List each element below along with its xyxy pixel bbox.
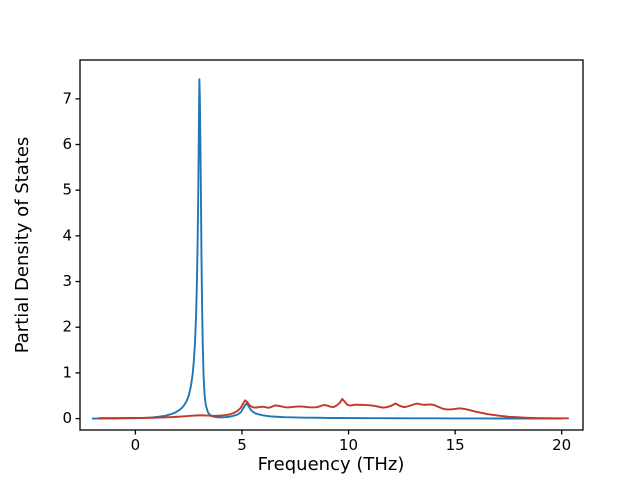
y-tick-label: 2	[62, 318, 72, 336]
plot-border	[80, 60, 583, 430]
x-tick-label: 10	[339, 436, 358, 454]
pdos-line-chart: 05101520 01234567 Frequency (THz) Partia…	[0, 0, 640, 480]
axes-frame	[80, 60, 583, 430]
y-axis-label: Partial Density of States	[12, 137, 33, 354]
x-tick-label: 20	[552, 436, 571, 454]
y-tick-label: 3	[62, 272, 72, 290]
y-tick-label: 6	[62, 135, 72, 153]
y-tick-label: 1	[62, 363, 72, 381]
x-tick-label: 15	[446, 436, 465, 454]
x-axis-ticks: 05101520	[131, 430, 572, 454]
figure-canvas: 05101520 01234567 Frequency (THz) Partia…	[0, 0, 640, 480]
data-series-group	[93, 79, 568, 418]
x-axis-label: Frequency (THz)	[258, 454, 405, 475]
y-tick-label: 0	[62, 409, 72, 427]
y-axis-ticks: 01234567	[62, 89, 80, 427]
y-tick-label: 4	[62, 226, 72, 244]
x-tick-label: 5	[237, 436, 247, 454]
y-tick-label: 7	[62, 89, 72, 107]
x-tick-label: 0	[131, 436, 141, 454]
series-blue	[93, 79, 562, 418]
y-tick-label: 5	[62, 181, 72, 199]
